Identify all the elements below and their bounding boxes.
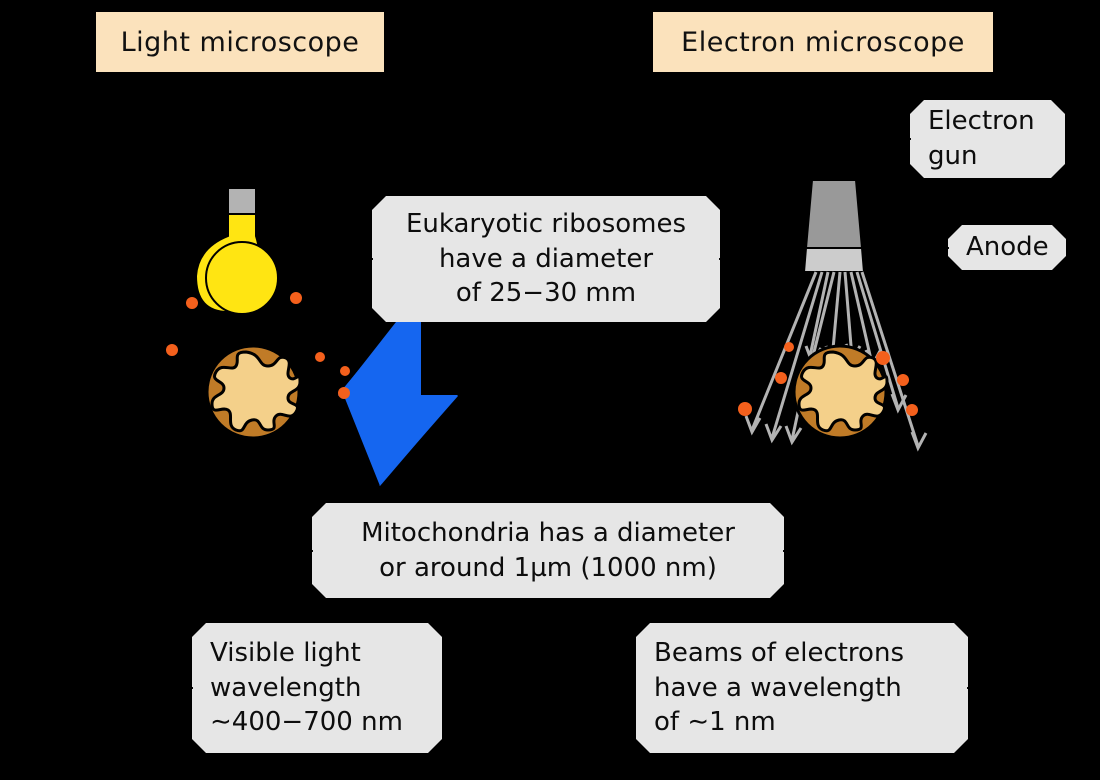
callout-line: or around 1µm (1000 nm) xyxy=(330,551,766,586)
callout-line: of 25−30 mm xyxy=(390,276,702,311)
header-light-microscope: Light microscope xyxy=(96,12,384,72)
callout-line: Visible light xyxy=(210,636,424,671)
callout-line: Eukaryotic ribosomes xyxy=(390,207,702,242)
particle-dot xyxy=(775,372,787,384)
header-label: Electron microscope xyxy=(681,27,965,58)
header-electron-microscope: Electron microscope xyxy=(653,12,993,72)
electron-beam-wavelength-callout: Beams of electronshave a wavelengthof ∼1… xyxy=(636,623,968,753)
callout-line: Electron xyxy=(928,104,1047,139)
particle-dot xyxy=(897,374,909,386)
callout-line: of ∼1 nm xyxy=(654,705,950,740)
callout-line: have a diameter xyxy=(390,242,702,277)
particle-dot xyxy=(784,342,794,352)
callout-line: gun xyxy=(928,139,1047,174)
callout-line: wavelength xyxy=(210,671,424,706)
diagram-canvas: Light microscope Electron microscope Ele… xyxy=(0,0,1100,780)
electron-gun-label: Electrongun xyxy=(910,100,1065,178)
visible-light-wavelength-callout: Visible lightwavelength∼400−700 nm xyxy=(192,623,442,753)
callout-line: Beams of electrons xyxy=(654,636,950,671)
header-label: Light microscope xyxy=(121,27,360,58)
callout-line: have a wavelength xyxy=(654,671,950,706)
particle-dot xyxy=(906,404,918,416)
callout-line: Mitochondria has a diameter xyxy=(330,516,766,551)
mitochondria-size-callout: Mitochondria has a diameteror around 1µm… xyxy=(312,503,784,598)
ribosome-size-callout: Eukaryotic ribosomeshave a diameterof 25… xyxy=(372,196,720,322)
callout-line: ∼400−700 nm xyxy=(210,705,424,740)
particle-dot xyxy=(738,402,752,416)
callout-line: Anode xyxy=(966,230,1048,265)
particle-dot xyxy=(876,351,890,365)
anode-label: Anode xyxy=(948,225,1066,270)
